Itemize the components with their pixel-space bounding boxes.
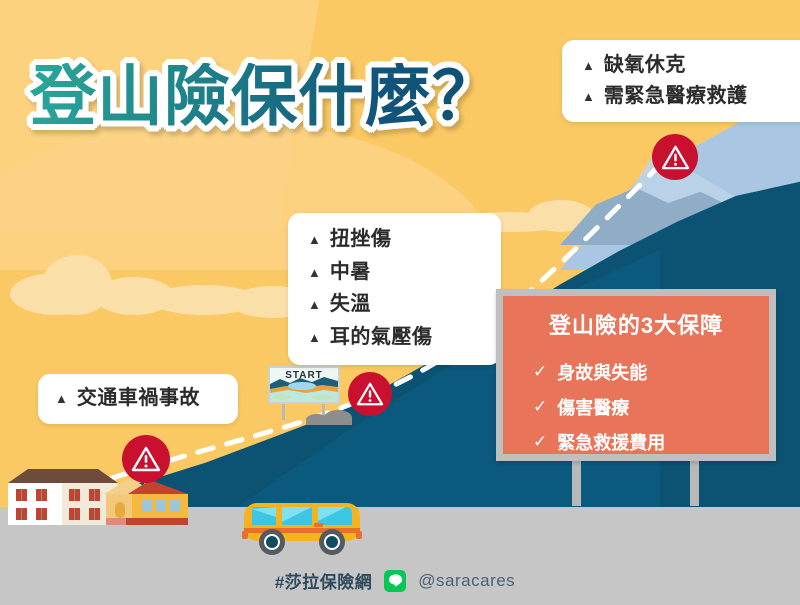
triangle-bullet-icon: ▲	[582, 90, 595, 103]
callout-text: 耳的氣壓傷	[330, 326, 433, 350]
coverage-label: 緊急救援費用	[557, 429, 665, 455]
callout-text: 交通車禍事故	[77, 387, 200, 411]
coverage-billboard: 登山險的3大保障 ✓ 身故與失能 ✓ 傷害醫療 ✓ 緊急救援費用	[496, 289, 776, 461]
coverage-item: ✓ 傷害醫療	[533, 394, 755, 420]
cloud-left	[10, 255, 260, 315]
callout-item: ▲ 失溫	[308, 293, 501, 317]
page-title: 登山險保什麼？	[30, 63, 499, 129]
line-handle-label: @saracares	[418, 571, 515, 591]
callout-midway-risks: ▲ 扭挫傷 ▲ 中暑 ▲ 失溫 ▲ 耳的氣壓傷	[288, 213, 501, 365]
alert-triangle-icon	[356, 381, 384, 407]
warning-icon-traffic[interactable]	[122, 435, 170, 483]
callout-text: 需緊急醫療救護	[604, 85, 748, 109]
callout-text: 中暑	[330, 261, 371, 285]
callout-item: ▲ 中暑	[308, 261, 501, 285]
coverage-label: 傷害醫療	[557, 394, 629, 420]
warning-icon-summit[interactable]	[652, 134, 698, 180]
line-chat-icon[interactable]	[384, 570, 406, 592]
coverage-item: ✓ 身故與失能	[533, 359, 755, 385]
triangle-bullet-icon: ▲	[308, 233, 321, 246]
billboard-panel: 登山險的3大保障 ✓ 身故與失能 ✓ 傷害醫療 ✓ 緊急救援費用	[503, 296, 769, 454]
warning-icon-trail[interactable]	[348, 372, 392, 416]
triangle-bullet-icon: ▲	[55, 392, 68, 405]
callout-item: ▲ 交通車禍事故	[55, 387, 238, 411]
triangle-bullet-icon: ▲	[308, 298, 321, 311]
line-bubble-glyph	[388, 573, 403, 588]
check-icon: ✓	[533, 362, 547, 382]
infographic-canvas: START	[0, 0, 800, 605]
start-sign-board: START	[268, 366, 340, 404]
callout-item: ▲ 耳的氣壓傷	[308, 326, 501, 350]
callout-item: ▲ 扭挫傷	[308, 228, 501, 252]
callout-item: ▲ 需緊急醫療救護	[582, 85, 800, 109]
billboard-leg-left	[572, 458, 581, 506]
triangle-bullet-icon: ▲	[582, 59, 595, 72]
triangle-bullet-icon: ▲	[308, 331, 321, 344]
rock-right	[324, 410, 352, 425]
start-sign: START	[268, 366, 340, 418]
coverage-item: ✓ 緊急救援費用	[533, 429, 755, 455]
callout-item: ▲ 缺氧休克	[582, 54, 800, 78]
alert-triangle-icon	[661, 144, 690, 171]
billboard-title: 登山險的3大保障	[517, 308, 755, 340]
hashtag-label: #莎拉保險網	[275, 568, 372, 593]
coverage-label: 身故與失能	[557, 359, 647, 385]
billboard-leg-right	[690, 458, 699, 506]
footer-bar: #莎拉保險網 @saracares	[0, 568, 800, 593]
callout-traffic-risk: ▲ 交通車禍事故	[38, 374, 238, 424]
callout-text: 失溫	[330, 293, 371, 317]
callout-summit-risks: ▲ 缺氧休克 ▲ 需緊急醫療救護	[562, 40, 800, 122]
start-sign-label: START	[270, 370, 338, 381]
bus-illustration	[242, 495, 362, 557]
alert-triangle-icon	[131, 445, 161, 473]
check-icon: ✓	[533, 397, 547, 417]
check-icon: ✓	[533, 432, 547, 452]
triangle-bullet-icon: ▲	[308, 266, 321, 279]
callout-text: 扭挫傷	[330, 228, 392, 252]
callout-text: 缺氧休克	[604, 54, 686, 78]
